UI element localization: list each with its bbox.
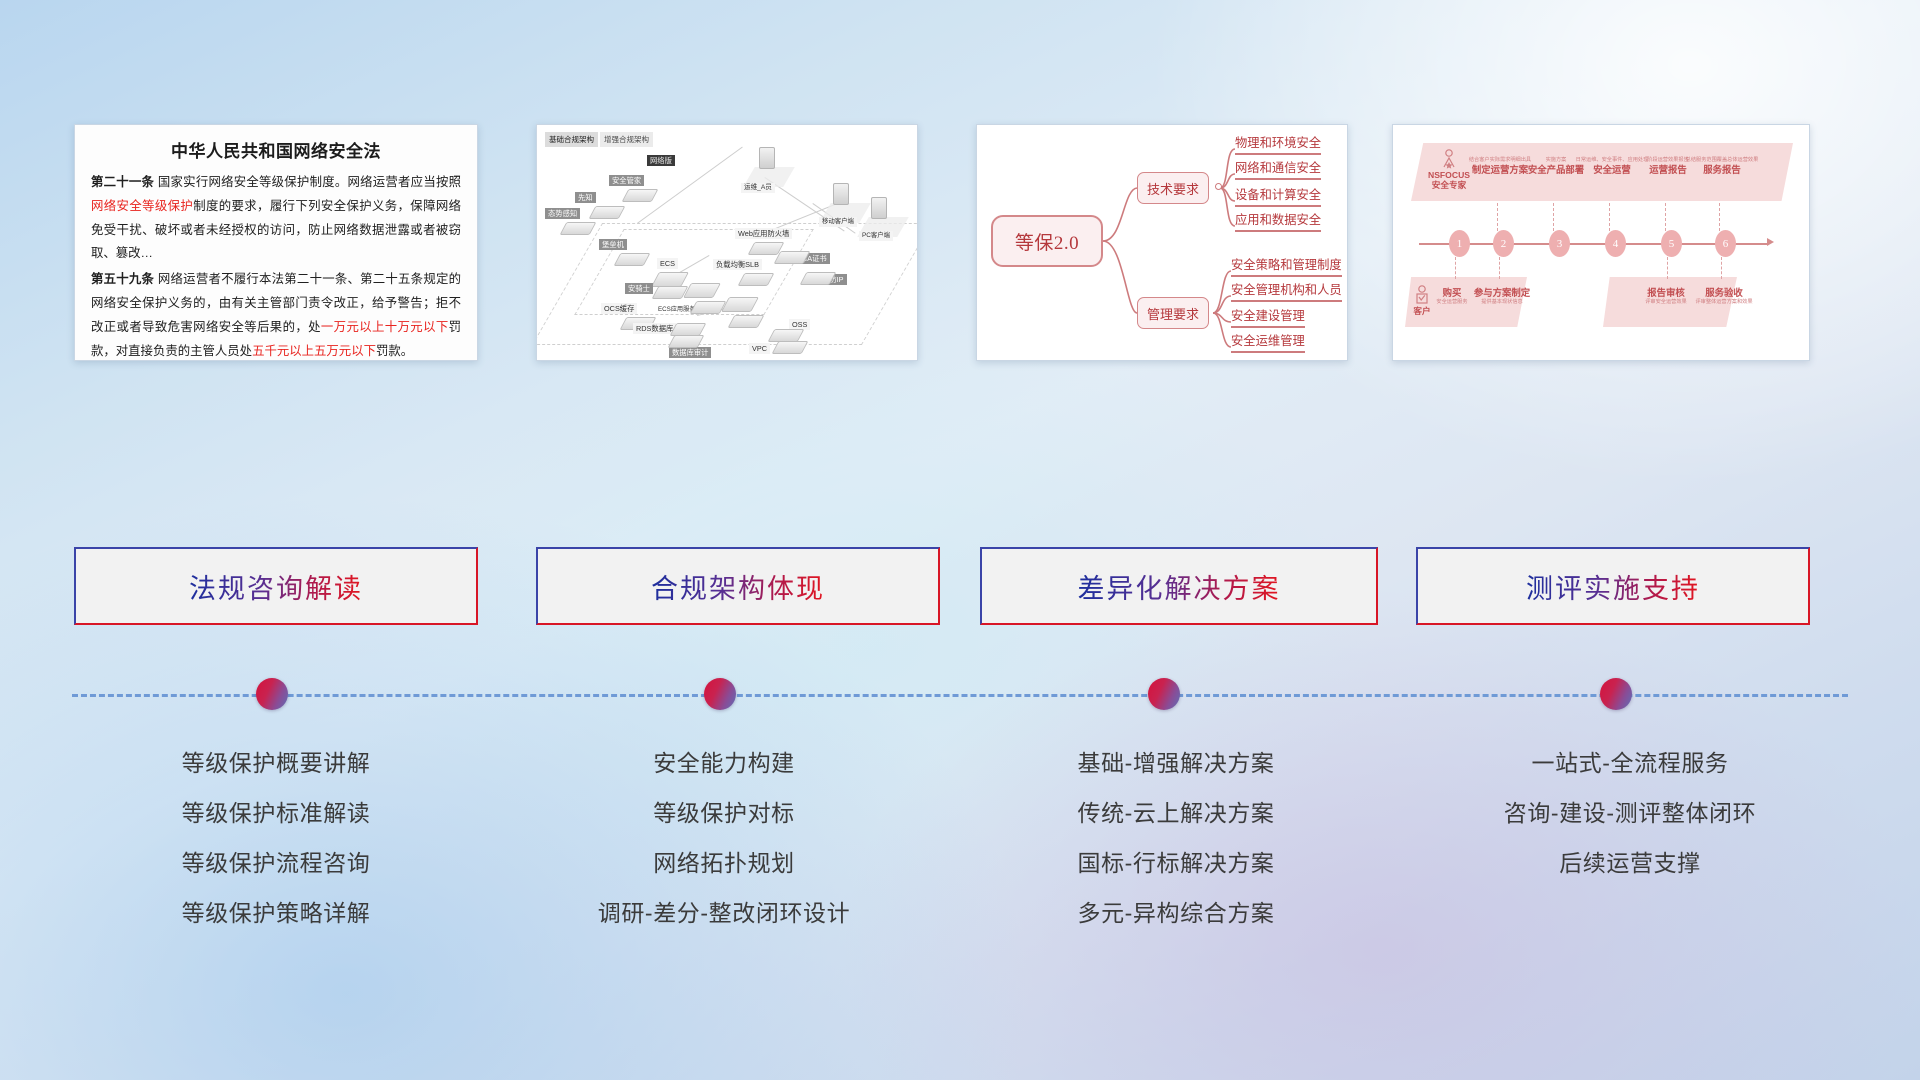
list-item: 多元-异构综合方案 xyxy=(950,888,1402,938)
title-box-assessment-support[interactable]: 测评实施支持 xyxy=(1416,547,1810,625)
node-label: 移动客户端 xyxy=(819,217,857,227)
node-label: 安骑士 xyxy=(625,283,653,294)
law-paragraph-1: 第二十一条 国家实行网络安全等级保护制度。网络运营者应当按照网络安全等级保护制度… xyxy=(91,171,461,266)
detail-columns: 等级保护概要讲解 等级保护标准解读 等级保护流程咨询 等级保护策略详解 安全能力… xyxy=(0,738,1920,968)
mindmap-collapse-icon[interactable] xyxy=(1215,183,1222,190)
mindmap-root-node[interactable]: 等保2.0 xyxy=(991,215,1103,267)
mindmap-leaf: 安全建设管理 xyxy=(1231,306,1305,328)
list-item: 国标-行标解决方案 xyxy=(950,838,1402,888)
node-label: 数据库审计 xyxy=(669,347,711,358)
tab-basic-architecture[interactable]: 基础合规架构 xyxy=(545,132,598,147)
step-subtitle: 评审整体运营方案和效果 xyxy=(1689,299,1759,306)
stem xyxy=(1667,257,1668,279)
stem xyxy=(1553,203,1554,231)
title-box-differentiated-solution[interactable]: 差异化解决方案 xyxy=(980,547,1378,625)
list-item: 等级保护标准解读 xyxy=(54,788,498,838)
node-label: PC客户端 xyxy=(859,231,893,241)
icon-server xyxy=(759,147,775,169)
preview-cards-row: 中华人民共和国网络安全法 第二十一条 国家实行网络安全等级保护制度。网络运营者应… xyxy=(0,124,1920,364)
node-label: 运维_A员 xyxy=(741,183,775,193)
list-item: 传统-云上解决方案 xyxy=(950,788,1402,838)
mindmap-branch-management[interactable]: 管理要求 xyxy=(1137,297,1209,329)
list-item: 一站式-全流程服务 xyxy=(1404,738,1856,788)
node-label: 态势感知 xyxy=(545,208,580,219)
stem xyxy=(1719,203,1720,231)
title-label: 测评实施支持 xyxy=(1526,567,1700,606)
node-label: 负载均衡SLB xyxy=(713,259,762,270)
list-item: 咨询-建设-测评整体闭环 xyxy=(1404,788,1856,838)
card-cybersecurity-law[interactable]: 中华人民共和国网络安全法 第二十一条 国家实行网络安全等级保护制度。网络运营者应… xyxy=(74,124,478,361)
tab-enhanced-architecture[interactable]: 增强合规架构 xyxy=(600,132,653,147)
mindmap-leaf: 设备和计算安全 xyxy=(1235,185,1321,207)
expert-name-line2: 安全专家 xyxy=(1419,181,1479,191)
icon-cylinder xyxy=(772,341,809,354)
mindmap-leaf: 安全运维管理 xyxy=(1231,331,1305,353)
expert-person-icon xyxy=(1440,149,1458,169)
mindmap-leaf: 应用和数据安全 xyxy=(1235,210,1321,232)
law-article-number-1: 第二十一条 xyxy=(91,175,154,189)
mindmap-leaf: 安全策略和管理制度 xyxy=(1231,255,1342,277)
list-item: 等级保护对标 xyxy=(500,788,948,838)
title-box-regulation-consulting[interactable]: 法规咨询解读 xyxy=(74,547,478,625)
stem xyxy=(1455,257,1456,279)
node-label: VPC xyxy=(749,343,770,354)
card-mindmap-dengbao[interactable]: 等保2.0 技术要求 物理和环境安全 网络和通信安全 设备和计算安全 应用和数据… xyxy=(976,124,1348,361)
mindmap-diagram: 等保2.0 技术要求 物理和环境安全 网络和通信安全 设备和计算安全 应用和数据… xyxy=(977,125,1347,360)
timeline-arrow-icon xyxy=(1767,238,1774,246)
law-article-number-2: 第五十九条 xyxy=(91,272,154,286)
step-title: 服务报告 xyxy=(1685,164,1759,175)
step-service-report: 总结服务范围覆盖总体运营效果 服务报告 xyxy=(1685,155,1759,175)
stem xyxy=(1609,203,1610,231)
law-seg: 罚款。 xyxy=(376,344,413,358)
customer-name: 客户 xyxy=(1399,307,1445,317)
stem xyxy=(1665,203,1666,231)
timeline-marker-4[interactable] xyxy=(1600,678,1632,710)
timeline-node-4[interactable]: 4 xyxy=(1605,230,1626,257)
architecture-tabs: 基础合规架构 增强合规架构 xyxy=(545,132,653,147)
detail-column-1: 等级保护概要讲解 等级保护标准解读 等级保护流程咨询 等级保护策略详解 xyxy=(54,738,498,938)
stem xyxy=(1497,203,1498,231)
node-label: RDS数据库 xyxy=(633,323,676,334)
stem xyxy=(1499,257,1500,279)
timeline-marker-3[interactable] xyxy=(1148,678,1180,710)
law-document: 中华人民共和国网络安全法 第二十一条 国家实行网络安全等级保护制度。网络运营者应… xyxy=(75,125,477,361)
detail-column-3: 基础-增强解决方案 传统-云上解决方案 国标-行标解决方案 多元-异构综合方案 xyxy=(950,738,1402,938)
step-subtitle: 提供基本现状信息 xyxy=(1469,299,1535,306)
list-item: 等级保护概要讲解 xyxy=(54,738,498,788)
timeline-connector xyxy=(0,670,1920,720)
mindmap-branch-technical[interactable]: 技术要求 xyxy=(1137,172,1209,204)
node-label: 堡垒机 xyxy=(599,239,627,250)
mindmap-leaf: 物理和环境安全 xyxy=(1235,133,1321,155)
step-subtitle: 总结服务范围覆盖总体运营效果 xyxy=(1685,157,1759,164)
architecture-diagram: 基础合规架构 增强合规架构 网络版 安全管家 先知 xyxy=(537,125,917,360)
node-label: OCS缓存 xyxy=(601,303,637,314)
node-label: Web应用防火墙 xyxy=(735,228,792,239)
law-title: 中华人民共和国网络安全法 xyxy=(91,137,461,162)
law-seg: 国家实行网络安全等级保护制度。网络运营者应当按照 xyxy=(154,175,461,189)
timeline-node-5[interactable]: 5 xyxy=(1661,230,1682,257)
law-paragraph-2: 第五十九条 网络运营者不履行本法第二十一条、第二十五条规定的网络安全保护义务的，… xyxy=(91,268,461,361)
law-highlight: 一万元以上十万元以下 xyxy=(321,320,449,334)
card-operations-timeline[interactable]: NSFOCUS 安全专家 客户 1 2 3 4 5 6 xyxy=(1392,124,1810,361)
step-participate-plan: 参与方案制定 提供基本现状信息 xyxy=(1469,287,1535,306)
timeline-node-2[interactable]: 2 xyxy=(1493,230,1514,257)
timeline-node-6[interactable]: 6 xyxy=(1715,230,1736,257)
icon-cylinder xyxy=(589,206,626,219)
detail-column-4: 一站式-全流程服务 咨询-建设-测评整体闭环 后续运营支撑 xyxy=(1404,738,1856,888)
operations-diagram: NSFOCUS 安全专家 客户 1 2 3 4 5 6 xyxy=(1393,125,1809,360)
mindmap-leaf: 网络和通信安全 xyxy=(1235,158,1321,180)
mindmap-leaf: 安全管理机构和人员 xyxy=(1231,280,1342,302)
timeline-marker-2[interactable] xyxy=(704,678,736,710)
timeline-node-1[interactable]: 1 xyxy=(1449,230,1470,257)
step-title: 参与方案制定 xyxy=(1469,287,1535,298)
timeline-dashed-line xyxy=(72,694,1848,697)
timeline-marker-1[interactable] xyxy=(256,678,288,710)
card-cloud-architecture[interactable]: 基础合规架构 增强合规架构 网络版 安全管家 先知 xyxy=(536,124,918,361)
stem xyxy=(1721,257,1722,279)
node-label: ECS xyxy=(657,258,678,269)
list-item: 网络拓扑规划 xyxy=(500,838,948,888)
list-item: 后续运营支撑 xyxy=(1404,838,1856,888)
node-label: 网络版 xyxy=(647,155,675,166)
icon-cylinder xyxy=(560,222,597,235)
timeline-node-3[interactable]: 3 xyxy=(1549,230,1570,257)
title-box-compliance-architecture[interactable]: 合规架构体现 xyxy=(536,547,940,625)
title-boxes-row: 法规咨询解读 合规架构体现 差异化解决方案 测评实施支持 xyxy=(0,547,1920,625)
detail-column-2: 安全能力构建 等级保护对标 网络拓扑规划 调研-差分-整改闭环设计 xyxy=(500,738,948,938)
icon-server xyxy=(871,197,887,219)
list-item: 调研-差分-整改闭环设计 xyxy=(500,888,948,938)
title-label: 合规架构体现 xyxy=(651,567,825,606)
list-item: 等级保护策略详解 xyxy=(54,888,498,938)
law-highlight: 网络安全等级保护 xyxy=(91,199,193,213)
title-label: 法规咨询解读 xyxy=(189,567,363,606)
node-label: 安全管家 xyxy=(609,175,644,186)
icon-cylinder xyxy=(622,189,659,202)
list-item: 等级保护流程咨询 xyxy=(54,838,498,888)
law-highlight: 五千元以上五万元以下 xyxy=(252,344,376,358)
title-label: 差异化解决方案 xyxy=(1078,567,1281,606)
step-title: 服务验收 xyxy=(1689,287,1759,298)
list-item: 安全能力构建 xyxy=(500,738,948,788)
node-label: 先知 xyxy=(575,192,596,203)
list-item: 基础-增强解决方案 xyxy=(950,738,1402,788)
step-service-acceptance: 服务验收 评审整体运营方案和效果 xyxy=(1689,287,1759,306)
icon-server xyxy=(833,183,849,205)
